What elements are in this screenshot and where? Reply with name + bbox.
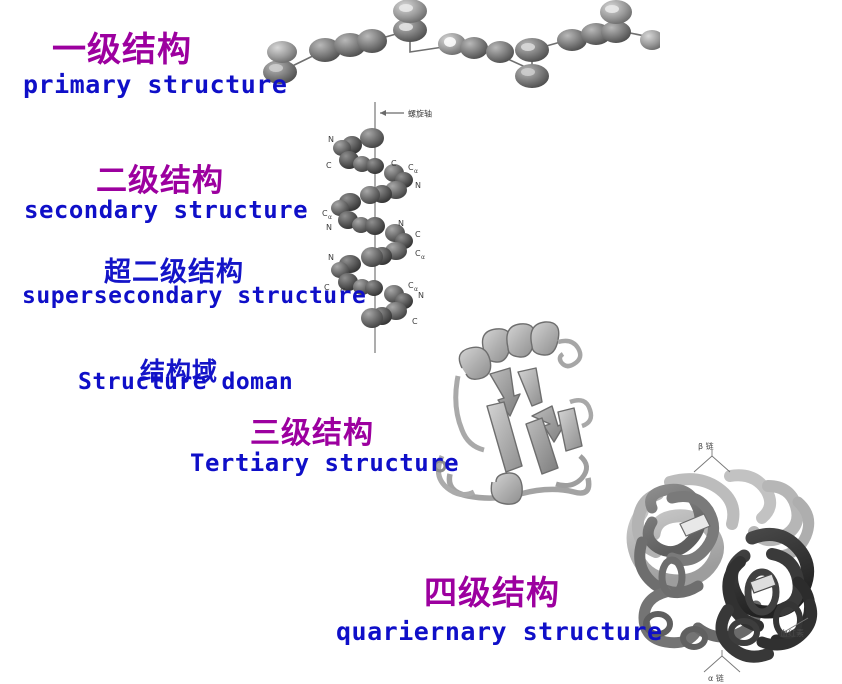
svg-text:N: N xyxy=(398,219,404,228)
label-tertiary-cn: 三级结构 xyxy=(250,408,374,452)
svg-text:C: C xyxy=(415,230,421,239)
svg-text:α: α xyxy=(421,254,425,261)
svg-text:C: C xyxy=(391,159,397,168)
svg-text:α: α xyxy=(414,168,418,175)
svg-text:α: α xyxy=(328,214,332,221)
hemoglobin-alpha-label: α 链 xyxy=(708,673,724,683)
label-secondary-cn: 二级结构 xyxy=(96,155,224,200)
svg-text:C: C xyxy=(326,161,332,170)
label-supersecondary-en: supersecondary structure xyxy=(22,283,366,309)
svg-text:N: N xyxy=(418,291,424,300)
slide-canvas: 一级结构 primary structure 螺旋轴 xyxy=(0,0,842,684)
hemoglobin-heme-label: 血红素 xyxy=(780,628,804,638)
label-quaternary-cn: 四级结构 xyxy=(424,566,560,614)
label-primary-en: primary structure xyxy=(23,70,287,99)
label-domain-en: Structure doman xyxy=(78,369,293,395)
svg-text:N: N xyxy=(326,223,332,232)
svg-text:N: N xyxy=(328,135,334,144)
svg-text:N: N xyxy=(328,253,334,262)
figure-peptide-chain xyxy=(250,0,660,90)
label-secondary-en: secondary structure xyxy=(24,196,308,224)
helix-axis-label: 螺旋轴 xyxy=(408,109,432,119)
label-quaternary-en: quariernary structure xyxy=(336,617,663,646)
svg-text:C: C xyxy=(412,317,418,326)
hemoglobin-beta-label: β 链 xyxy=(698,442,714,451)
figure-hemoglobin: β 链 α 链 血红素 xyxy=(612,442,842,684)
figure-ribbon-domain xyxy=(432,306,612,511)
label-tertiary-en: Tertiary structure xyxy=(190,449,459,477)
svg-text:N: N xyxy=(415,181,421,190)
label-primary-cn: 一级结构 xyxy=(52,22,192,71)
